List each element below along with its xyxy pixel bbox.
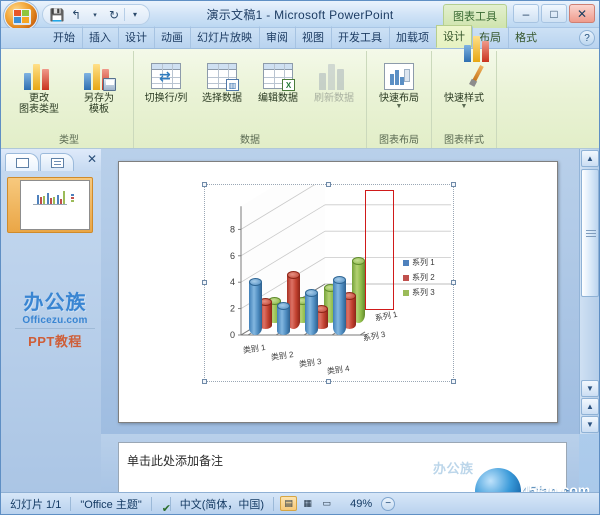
next-slide-button[interactable]: ▼ (581, 416, 599, 433)
close-pane-icon[interactable]: ✕ (87, 152, 97, 166)
ribbon-button-快速布局[interactable]: 快速布局▼ (372, 56, 426, 113)
ribbon-tab-5[interactable]: 幻灯片放映 (190, 26, 259, 48)
change-chart-type-icon (24, 62, 54, 90)
quick-style-icon (449, 62, 479, 90)
ribbon-button-更改[interactable]: 更改图表类型 (10, 56, 68, 118)
ribbon-button-icon: ▥ (207, 59, 237, 93)
ribbon-button-快速样式[interactable]: 快速样式▼ (437, 56, 491, 113)
workspace: ✕ 1 (1, 149, 599, 514)
thumbnail-image (20, 180, 90, 230)
legend-label: 系列 3 (412, 287, 435, 298)
slides-pane-tabs: ✕ (1, 149, 101, 171)
ribbon-button-label: 选择数据 (202, 93, 242, 104)
annotation-rectangle (365, 190, 394, 310)
view-slide-sorter-button[interactable]: ▦ (299, 496, 316, 511)
legend-item-3[interactable]: 系列 3 (403, 287, 451, 298)
legend-swatch (403, 260, 409, 266)
scrollbar-grip (586, 230, 596, 231)
chart-bar-系列 1-类别 4[interactable] (333, 276, 346, 335)
resize-handle-top-center[interactable] (326, 182, 331, 187)
slide-canvas[interactable]: 02468类别 1类别 2类别 3类别 4系列 1系列 3 系列 1系列 2系列… (118, 161, 558, 423)
ribbon-button-另存为[interactable]: 另存为模板 (70, 56, 128, 118)
help-icon[interactable]: ? (579, 30, 595, 46)
scrollbar-thumb[interactable] (581, 169, 599, 297)
ribbon-tab-6[interactable]: 审阅 (259, 26, 295, 48)
tab-slides[interactable] (5, 153, 39, 171)
powerpoint-window: 💾 ↰ ▾ ↻ ▾ 演示文稿1 - Microsoft PowerPoint 图… (0, 0, 600, 515)
resize-handle-bottom-right[interactable] (451, 379, 456, 384)
slides-pane-body: 1 (1, 171, 101, 514)
officezu-watermark: 办公族 Officezu.com PPT教程 (9, 286, 101, 350)
ribbon-tab-9[interactable]: 加载项 (389, 26, 436, 48)
zoom-out-button[interactable]: − (381, 497, 395, 511)
resize-handle-top-right[interactable] (451, 182, 456, 187)
ribbon-button-label: 另存为 (84, 93, 114, 104)
chart-bar-系列 1-类别 2[interactable] (277, 302, 290, 335)
window-title: 演示文稿1 - Microsoft PowerPoint (1, 6, 599, 23)
refresh-data-icon (319, 62, 349, 90)
legend-item-1[interactable]: 系列 1 (403, 257, 451, 268)
ribbon-group-items: ⇄切换行/列▥选择数据X编辑数据刷新数据 (139, 53, 361, 131)
ribbon-button-icon (84, 59, 114, 93)
ribbon-group-items: 快速样式▼ (437, 53, 491, 131)
ribbon-group-类型: 更改图表类型另存为模板类型 (5, 51, 134, 148)
ribbon-button-icon (449, 59, 479, 93)
ribbon-button-label: 编辑数据 (258, 93, 298, 104)
ribbon-group-items: 更改图表类型另存为模板 (10, 53, 128, 131)
ribbon-group-label: 类型 (10, 131, 128, 148)
ribbon-button-label: 刷新数据 (314, 93, 354, 104)
chart-bar-系列 1-类别 1[interactable] (249, 278, 262, 335)
ribbon-button-icon (24, 59, 54, 93)
status-slide-number[interactable]: 幻灯片 1/1 (1, 496, 70, 512)
ribbon-group-图表布局: 快速布局▼图表布局 (367, 51, 432, 148)
watermark-en: Officezu.com (9, 315, 101, 326)
watermark-ppt: PPT教程 (9, 331, 101, 350)
ribbon-tab-12[interactable]: 格式 (508, 26, 544, 48)
ribbon-tabstrip: 开始插入设计动画幻灯片放映审阅视图开发工具加载项设计布局格式? (1, 28, 599, 49)
outline-icon (51, 158, 64, 168)
legend-item-2[interactable]: 系列 2 (403, 272, 451, 283)
ribbon: 更改图表类型另存为模板类型⇄切换行/列▥选择数据X编辑数据刷新数据数据快速布局▼… (1, 49, 599, 149)
ribbon-tab-3[interactable]: 设计 (118, 26, 154, 48)
ribbon-button-切换行/列[interactable]: ⇄切换行/列 (139, 56, 193, 107)
ribbon-button-编辑数据[interactable]: X编辑数据 (251, 56, 305, 107)
y-axis-tick: 2 (230, 304, 235, 314)
resize-handle-top-left[interactable] (202, 182, 207, 187)
resize-handle-middle-right[interactable] (451, 280, 456, 285)
resize-handle-middle-left[interactable] (202, 280, 207, 285)
ribbon-tab-2[interactable]: 插入 (82, 26, 118, 48)
scroll-down-button[interactable]: ▼ (581, 380, 599, 397)
ribbon-tab-8[interactable]: 开发工具 (331, 26, 389, 48)
ribbon-button-icon: ⇄ (151, 59, 181, 93)
edit-data-icon: X (263, 63, 293, 89)
ribbon-button-icon (384, 59, 414, 93)
switch-row-column-icon: ⇄ (151, 63, 181, 89)
legend-label: 系列 1 (412, 257, 435, 268)
ribbon-group-数据: ⇄切换行/列▥选择数据X编辑数据刷新数据数据 (134, 51, 367, 148)
view-buttons: ▤ ▦ ▭ (274, 496, 341, 511)
minimize-button[interactable]: – (513, 4, 539, 23)
notes-placeholder: 单击此处添加备注 (127, 452, 223, 469)
ribbon-button-label2: 模板 (89, 104, 109, 115)
resize-handle-bottom-left[interactable] (202, 379, 207, 384)
legend-swatch (403, 290, 409, 296)
ribbon-tab-1[interactable]: 开始 (46, 26, 82, 48)
scroll-up-button[interactable]: ▲ (581, 150, 599, 167)
maximize-button[interactable]: □ (541, 4, 567, 23)
save-as-template-icon (84, 62, 114, 90)
view-slideshow-button[interactable]: ▭ (318, 496, 335, 511)
ribbon-group-label: 图表布局 (372, 131, 426, 148)
resize-handle-bottom-center[interactable] (326, 379, 331, 384)
ribbon-button-label: 更改 (29, 93, 49, 104)
ribbon-tab-7[interactable]: 视图 (295, 26, 331, 48)
ribbon-button-label2: 图表类型 (19, 104, 59, 115)
y-axis-tick: 6 (230, 251, 235, 261)
ribbon-button-icon: X (263, 59, 293, 93)
status-theme[interactable]: "Office 主题" (71, 496, 150, 512)
slides-pane: ✕ 1 (1, 149, 101, 514)
ribbon-button-icon (319, 59, 349, 93)
watermark-cn: 办公族 (9, 286, 101, 315)
y-axis-tick: 0 (230, 330, 235, 340)
window-controls: – □ ✕ (513, 4, 595, 23)
title-bar: 💾 ↰ ▾ ↻ ▾ 演示文稿1 - Microsoft PowerPoint 图… (1, 1, 599, 28)
ribbon-button-刷新数据: 刷新数据 (307, 56, 361, 107)
y-axis-tick: 4 (230, 277, 235, 287)
close-button[interactable]: ✕ (569, 4, 595, 23)
ribbon-group-label: 数据 (139, 131, 361, 148)
ribbon-button-label: 切换行/列 (145, 93, 188, 104)
y-axis-tick: 8 (230, 224, 235, 234)
slide-icon (16, 158, 29, 168)
chevron-down-icon[interactable]: ▼ (396, 104, 403, 110)
ribbon-button-选择数据[interactable]: ▥选择数据 (195, 56, 249, 107)
select-data-icon: ▥ (207, 63, 237, 89)
ribbon-group-图表样式: 快速样式▼图表样式 (432, 51, 497, 148)
tab-outline[interactable] (40, 153, 74, 171)
quick-layout-icon (384, 63, 414, 90)
ribbon-group-label: 图表样式 (437, 131, 491, 148)
legend-label: 系列 2 (412, 272, 435, 283)
slide-thumbnail-1[interactable]: 1 (7, 177, 93, 233)
scrollbar-bottom-buttons: ▼ ▲ ▼ (580, 379, 600, 434)
chevron-down-icon[interactable]: ▼ (461, 104, 468, 110)
chart-legend[interactable]: 系列 1系列 2系列 3 (403, 257, 451, 302)
status-bar: 幻灯片 1/1 "Office 主题" 中文(简体，中国) ▤ ▦ ▭ 49% … (1, 492, 599, 514)
ribbon-group-items: 快速布局▼ (372, 53, 426, 131)
previous-slide-button[interactable]: ▲ (581, 398, 599, 415)
status-language[interactable]: 中文(简体，中国) (171, 496, 273, 512)
ribbon-tab-4[interactable]: 动画 (154, 26, 190, 48)
legend-swatch (403, 275, 409, 281)
chart-bar-系列 1-类别 3[interactable] (305, 289, 318, 335)
vertical-scrollbar[interactable]: ▲ ▼ ▲ ▼ (579, 149, 599, 434)
zoom-level[interactable]: 49% (341, 498, 381, 510)
chart-object[interactable]: 02468类别 1类别 2类别 3类别 4系列 1系列 3 系列 1系列 2系列… (204, 184, 454, 382)
view-normal-button[interactable]: ▤ (280, 496, 297, 511)
slide-editing-area[interactable]: 02468类别 1类别 2类别 3类别 4系列 1系列 3 系列 1系列 2系列… (101, 149, 579, 434)
